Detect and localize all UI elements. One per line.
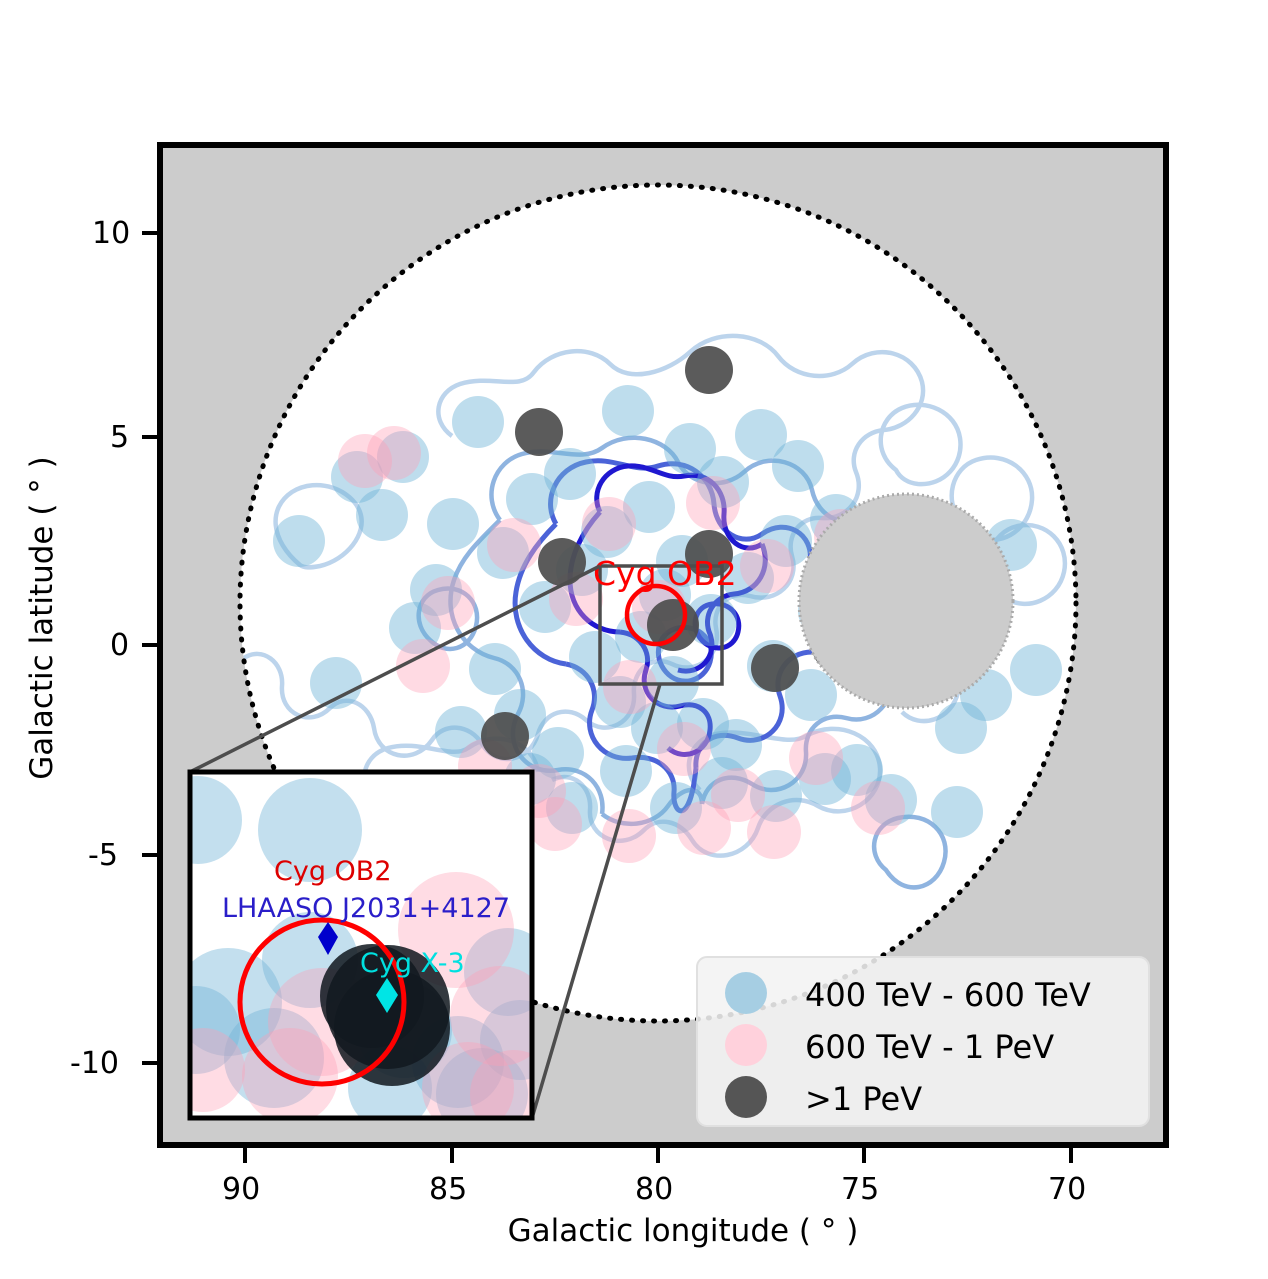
- x-axis-title: Galactic longitude ( ° ): [283, 1213, 1083, 1249]
- inset-lhaaso-label: LHAASO J2031+4127: [222, 893, 510, 924]
- legend-swatch-gt-1pev: [725, 1076, 767, 1118]
- y-tick-label-minus5: -5: [88, 838, 118, 873]
- y-axis-title: Galactic latitude ( ° ): [24, 418, 60, 818]
- legend-swatch-400-600-tev: [725, 972, 767, 1014]
- x-tick-label-75: 75: [841, 1172, 879, 1207]
- y-tick-label-minus10: -10: [70, 1046, 119, 1081]
- legend-label-600tev-1pev: 600 TeV - 1 PeV: [805, 1028, 1054, 1066]
- x-tick-label-80: 80: [635, 1172, 673, 1207]
- inset-cyg-ob2-label: Cyg OB2: [274, 856, 392, 887]
- legend-label-400-600-tev: 400 TeV - 600 TeV: [805, 976, 1091, 1014]
- x-tick-label-90: 90: [222, 1172, 260, 1207]
- cyg-ob2-label-main: Cyg OB2: [593, 554, 737, 593]
- legend: 400 TeV - 600 TeV 600 TeV - 1 PeV >1 PeV: [697, 957, 1149, 1126]
- x-tick-label-70: 70: [1048, 1172, 1086, 1207]
- inset-cyg-x3-label: Cyg X-3: [360, 948, 465, 979]
- figure-root: Cyg OB2 Cyg OB2: [0, 0, 1268, 1279]
- x-tick-label-85: 85: [429, 1172, 467, 1207]
- y-tick-label-0: 0: [110, 628, 129, 663]
- legend-item-2: >1 PeV: [725, 1076, 922, 1118]
- y-tick-label-5: 5: [110, 420, 129, 455]
- y-tick-label-10: 10: [92, 216, 130, 251]
- legend-label-gt-1pev: >1 PeV: [805, 1080, 922, 1118]
- masked-region-circle: [799, 494, 1013, 708]
- legend-swatch-600tev-1pev: [725, 1024, 767, 1066]
